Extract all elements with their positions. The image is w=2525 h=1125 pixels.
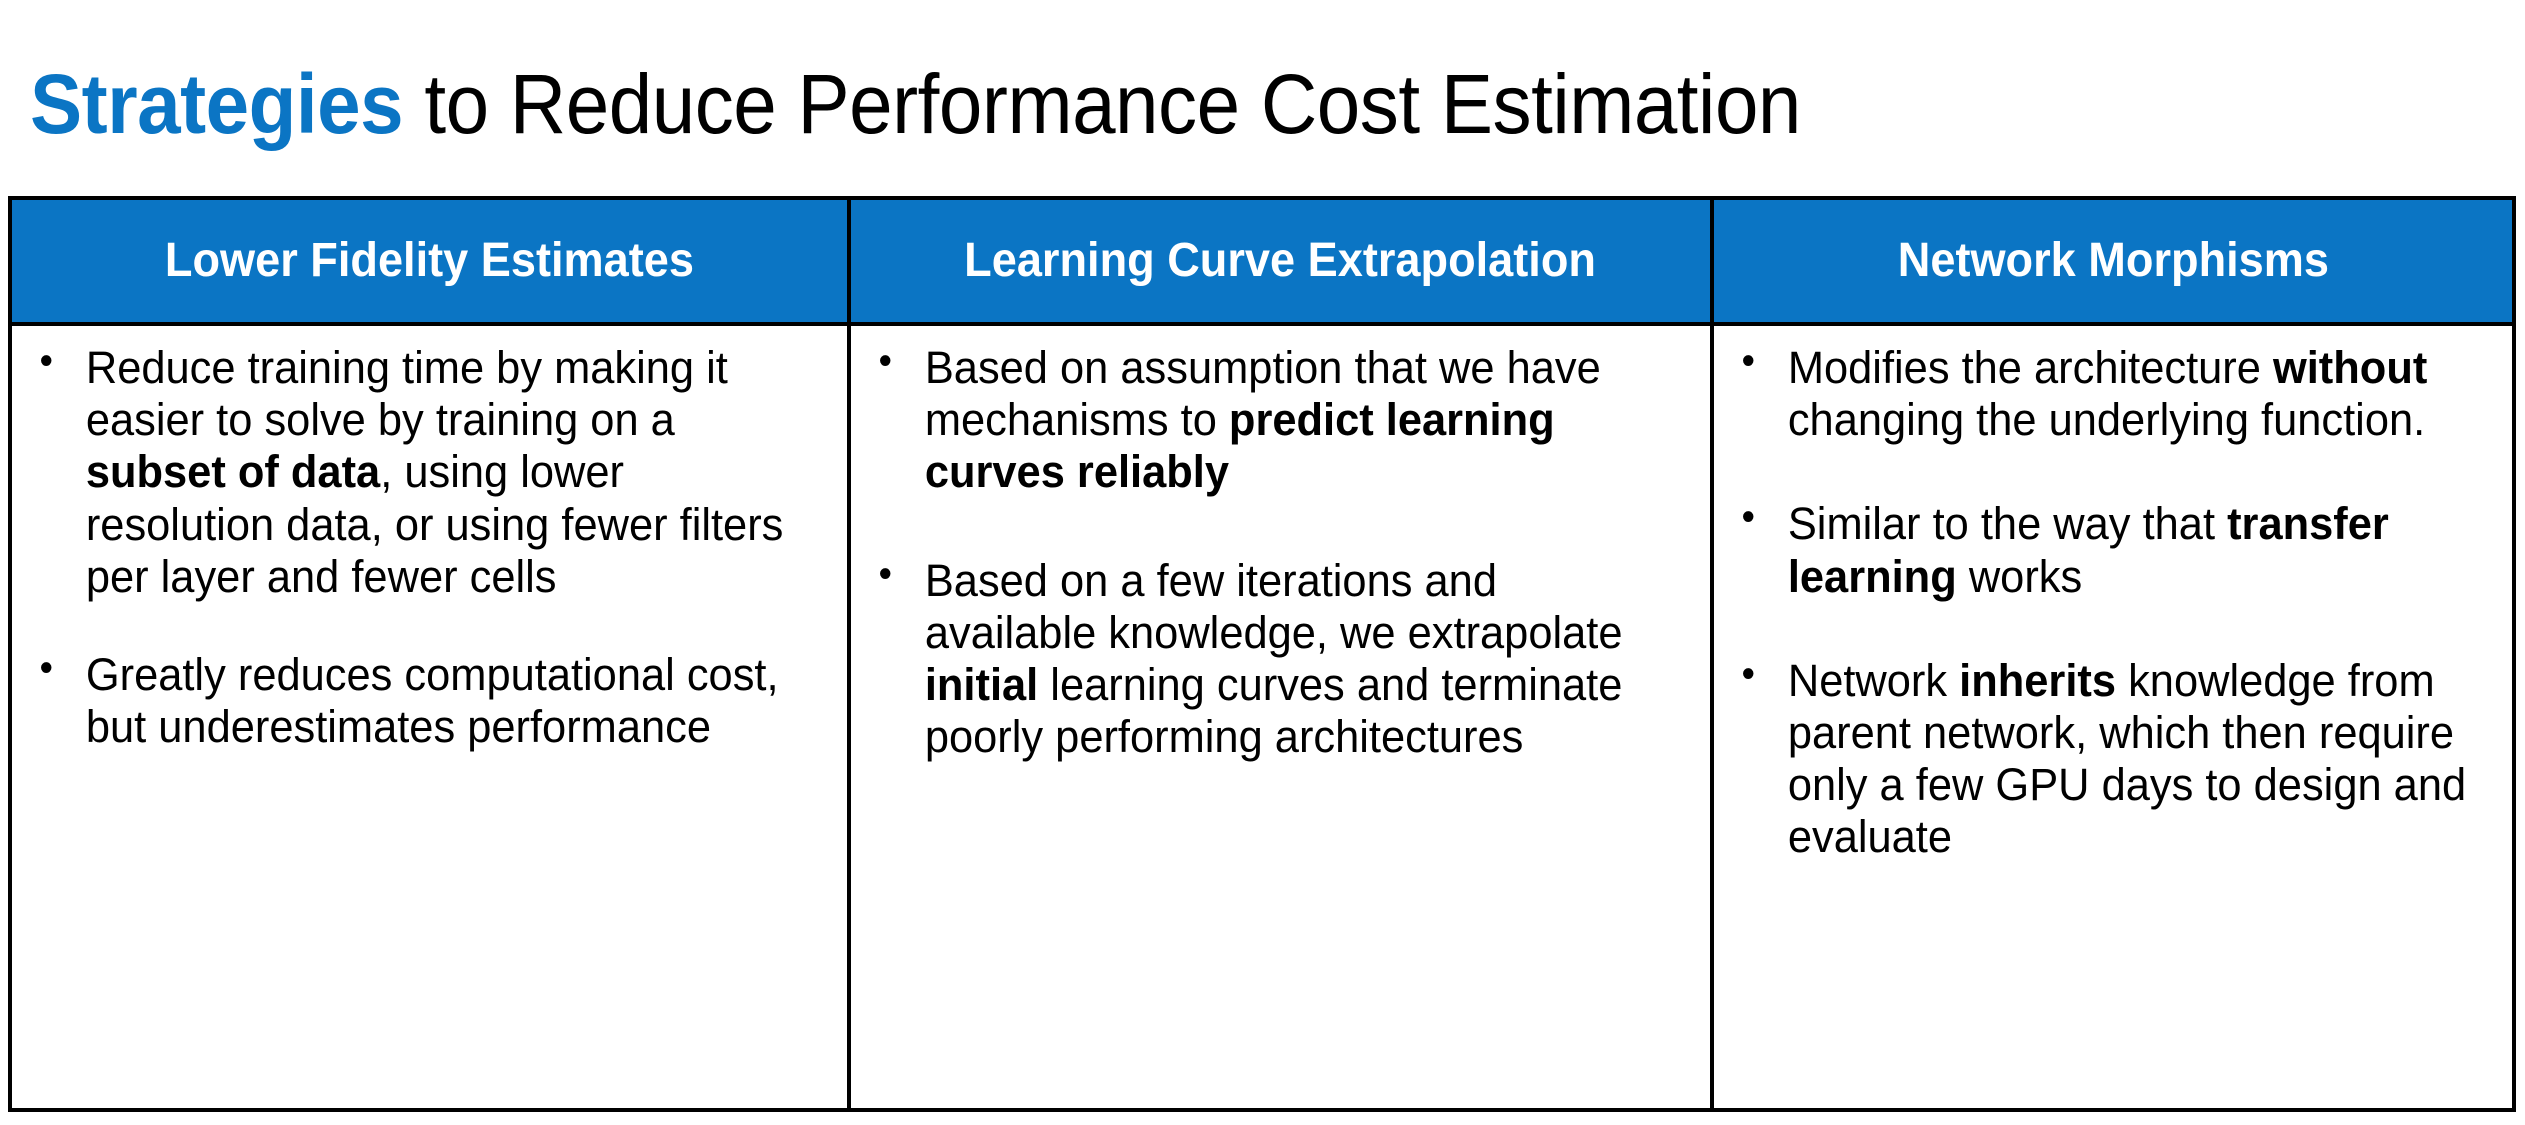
list-item: Similar to the way that transfer learnin… bbox=[1728, 498, 2471, 602]
bullet-list: Reduce training time by making it easier… bbox=[26, 342, 833, 753]
column-header-network-morphisms: Network Morphisms bbox=[1712, 200, 2512, 324]
list-item: Modifies the architecture without changi… bbox=[1728, 342, 2471, 446]
list-item: Greatly reduces computational cost, but … bbox=[26, 649, 805, 753]
column-header-label: Learning Curve Extrapolation bbox=[965, 236, 1597, 286]
page-title-accent: Strategies bbox=[30, 57, 403, 151]
list-item: Reduce training time by making it easier… bbox=[26, 342, 805, 603]
strategies-table: Lower Fidelity Estimates Learning Curve … bbox=[8, 196, 2516, 1112]
bullet-list: Based on assumption that we have mechani… bbox=[865, 342, 1696, 763]
bullet-list: Modifies the architecture without changi… bbox=[1728, 342, 2498, 864]
column-header-learning-curve-extrapolation: Learning Curve Extrapolation bbox=[849, 200, 1712, 324]
cell-content: Based on assumption that we have mechani… bbox=[851, 326, 1710, 829]
slide: Strategies to Reduce Performance Cost Es… bbox=[0, 0, 2525, 1125]
cell-content: Reduce training time by making it easier… bbox=[12, 326, 847, 809]
column-header-label: Lower Fidelity Estimates bbox=[165, 236, 694, 286]
table-body-row: Reduce training time by making it easier… bbox=[12, 324, 2512, 1108]
column-header-label: Network Morphisms bbox=[1897, 236, 2328, 286]
cell-network-morphisms: Modifies the architecture without changi… bbox=[1712, 324, 2512, 1108]
list-item: Based on a few iterations and available … bbox=[865, 555, 1667, 764]
cell-learning-curve-extrapolation: Based on assumption that we have mechani… bbox=[849, 324, 1712, 1108]
list-item: Network inherits knowledge from parent n… bbox=[1728, 655, 2471, 864]
cell-content: Modifies the architecture without changi… bbox=[1714, 326, 2512, 926]
page-title: Strategies to Reduce Performance Cost Es… bbox=[30, 50, 2327, 158]
comparison-table: Lower Fidelity Estimates Learning Curve … bbox=[12, 200, 2512, 1108]
column-header-lower-fidelity-estimates: Lower Fidelity Estimates bbox=[12, 200, 849, 324]
table-header-row: Lower Fidelity Estimates Learning Curve … bbox=[12, 200, 2512, 324]
list-item: Based on assumption that we have mechani… bbox=[865, 342, 1667, 499]
page-title-rest: to Reduce Performance Cost Estimation bbox=[403, 57, 1801, 151]
cell-lower-fidelity-estimates: Reduce training time by making it easier… bbox=[12, 324, 849, 1108]
